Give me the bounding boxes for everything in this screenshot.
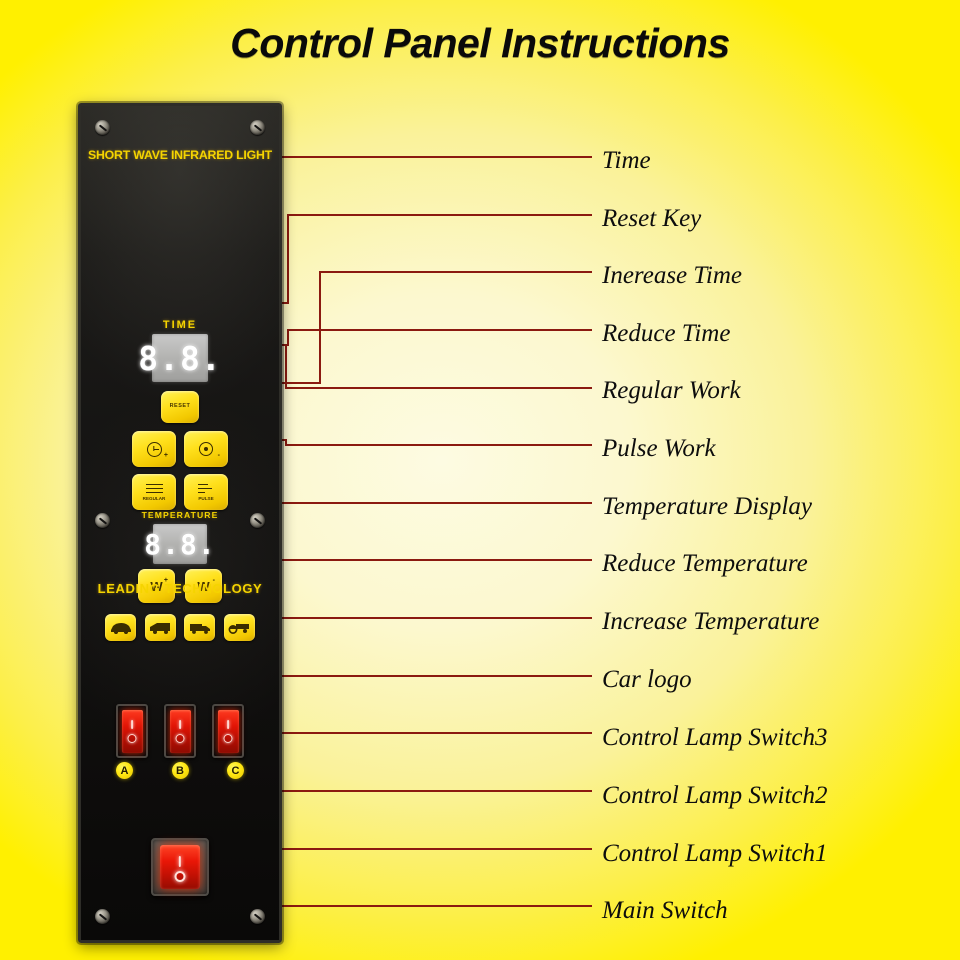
callout-control-lamp-switch1: Control Lamp Switch1 — [602, 841, 828, 866]
callout-regular-work: Regular Work — [602, 378, 741, 403]
clock-plus-icon — [147, 442, 162, 457]
pulse-wave-icon — [198, 484, 215, 495]
minus-sign-icon: - — [218, 452, 220, 459]
lamp-switch-group — [116, 704, 244, 758]
panel-screw-bottom-right — [250, 909, 265, 924]
callout-reduce-temperature: Reduce Temperature — [602, 551, 808, 576]
tractor-logo-button[interactable] — [224, 614, 255, 641]
rocker-cap — [218, 710, 239, 753]
callout-pulse-work: Pulse Work — [602, 436, 716, 461]
temperature-display-value: 8.8. — [144, 528, 215, 561]
switch-badge-a: A — [116, 762, 133, 779]
regular-work-button[interactable]: REGULAR — [132, 474, 176, 510]
callout-temperature-display: Temperature Display — [602, 494, 812, 519]
callout-reset-key: Reset Key — [602, 206, 701, 231]
truck-logo-button[interactable] — [184, 614, 215, 641]
switch-badge-b: B — [172, 762, 189, 779]
control-panel: SHORT WAVE INFRARED LIGHT TIME 8.8. RESE… — [78, 103, 282, 943]
callout-increase-time: Inerease Time — [602, 263, 742, 288]
pulse-work-label: PULSE — [198, 496, 213, 501]
callout-car-logo: Car logo — [602, 667, 692, 692]
time-display: 8.8. — [152, 334, 208, 382]
rocker-cap — [122, 710, 143, 753]
temperature-section-label: TEMPERATURE — [81, 510, 279, 520]
work-mode-button-group: REGULAR PULSE — [132, 474, 228, 510]
vehicle-logo-group — [105, 614, 255, 641]
reset-button-label: RESET — [170, 404, 191, 410]
panel-screw-top-right — [250, 120, 265, 135]
panel-screw-top-left — [95, 120, 110, 135]
page-title: Control Panel Instructions — [0, 20, 960, 67]
page-background: Control Panel Instructions — [0, 0, 960, 960]
callout-reduce-time: Reduce Time — [602, 321, 730, 346]
rocker-cap — [170, 710, 191, 753]
car-logo-button[interactable] — [105, 614, 136, 641]
time-adjust-button-group: + - — [132, 431, 228, 467]
van-logo-button[interactable] — [145, 614, 176, 641]
clock-minus-icon — [199, 442, 213, 456]
increase-time-button[interactable]: + — [132, 431, 176, 467]
truck-icon — [189, 621, 211, 634]
switch-badge-c: C — [227, 762, 244, 779]
callout-time: Time — [602, 148, 651, 173]
control-lamp-switch-c[interactable] — [212, 704, 244, 758]
main-power-switch[interactable] — [151, 838, 209, 896]
rocker-cap — [160, 845, 200, 889]
plus-sign-icon: + — [164, 452, 168, 459]
van-icon — [149, 621, 171, 634]
callout-control-lamp-switch3: Control Lamp Switch3 — [602, 725, 828, 750]
control-lamp-switch-a[interactable] — [116, 704, 148, 758]
lamp-switch-badge-group: A B C — [116, 762, 244, 779]
pulse-work-button[interactable]: PULSE — [184, 474, 228, 510]
reset-key-button[interactable]: RESET — [161, 391, 199, 423]
continuous-wave-icon — [146, 484, 163, 495]
callout-control-lamp-switch2: Control Lamp Switch2 — [602, 783, 828, 808]
car-icon — [110, 621, 132, 634]
panel-header-text: SHORT WAVE INFRARED LIGHT — [81, 148, 279, 162]
reduce-time-button[interactable]: - — [184, 431, 228, 467]
tractor-icon — [228, 621, 250, 634]
callout-main-switch: Main Switch — [602, 898, 728, 923]
regular-work-label: REGULAR — [143, 496, 166, 501]
time-display-value: 8.8. — [138, 339, 221, 378]
time-section-label: TIME — [81, 319, 279, 331]
control-lamp-switch-b[interactable] — [164, 704, 196, 758]
brand-text: LEADING TECHNOLOGY — [81, 581, 279, 596]
temperature-display: 8.8. — [153, 524, 207, 564]
callout-increase-temperature: Increase Temperature — [602, 609, 819, 634]
panel-face — [81, 106, 279, 940]
panel-screw-bottom-left — [95, 909, 110, 924]
